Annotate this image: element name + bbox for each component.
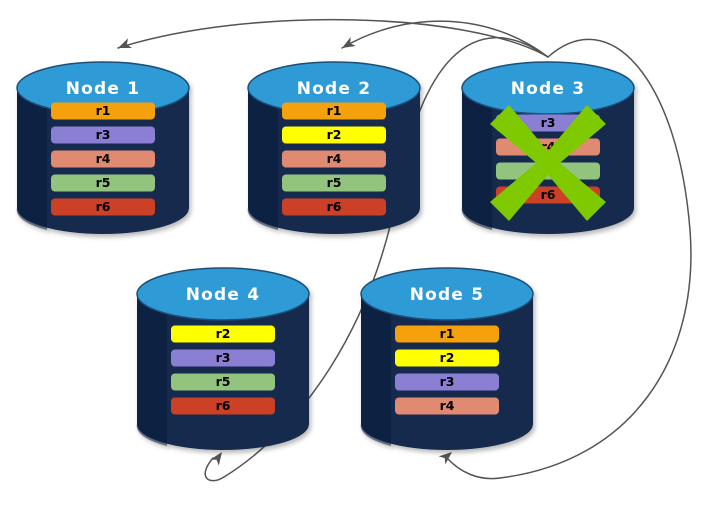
replication-diagram: Node 1r1r3r4r5r6Node 2r1r2r4r5r6Node 3r3… — [0, 0, 708, 508]
record-label: r6 — [96, 199, 111, 214]
node-cylinder-3[interactable]: Node 3r3r4r5r6 — [462, 62, 634, 234]
record-label: r2 — [216, 326, 231, 341]
record-label: r3 — [96, 127, 111, 142]
record-label: r2 — [327, 127, 342, 142]
node-label: Node 3 — [511, 79, 586, 99]
edge-arrowhead — [439, 448, 456, 464]
record-label: r5 — [96, 175, 111, 190]
record-label: r1 — [96, 103, 111, 118]
record-label: r4 — [327, 151, 342, 166]
cylinder-shading — [361, 294, 391, 446]
cylinder-shading — [137, 294, 167, 446]
record-label: r1 — [440, 326, 455, 341]
node-cylinder-2[interactable]: Node 2r1r2r4r5r6 — [248, 62, 420, 234]
node-cylinder-4[interactable]: Node 4r2r3r5r6 — [137, 268, 309, 450]
edge-node3-to-node1 — [116, 20, 548, 57]
node-label: Node 5 — [410, 285, 485, 305]
cylinder-shading — [17, 88, 47, 230]
record-label: r4 — [440, 398, 455, 413]
record-label: r2 — [440, 350, 455, 365]
diagram-canvas: Node 1r1r3r4r5r6Node 2r1r2r4r5r6Node 3r3… — [0, 0, 708, 508]
record-label: r1 — [327, 103, 342, 118]
node-label: Node 2 — [297, 79, 372, 99]
record-label: r6 — [327, 199, 342, 214]
record-label: r3 — [541, 115, 556, 130]
record-label: r4 — [96, 151, 111, 166]
node-cylinder-5[interactable]: Node 5r1r2r3r4 — [361, 268, 533, 450]
edge-arrowhead — [116, 38, 132, 53]
cylinder-shading — [248, 88, 278, 230]
record-label: r3 — [216, 350, 231, 365]
node-cylinder-1[interactable]: Node 1r1r3r4r5r6 — [17, 62, 189, 234]
node-label: Node 4 — [186, 285, 261, 305]
cylinder-shading — [462, 88, 492, 230]
record-label: r3 — [440, 374, 455, 389]
record-label: r5 — [327, 175, 342, 190]
record-label: r6 — [541, 187, 556, 202]
node-label: Node 1 — [66, 79, 141, 99]
edge-arrowhead — [339, 37, 355, 53]
record-label: r6 — [216, 398, 231, 413]
record-label: r5 — [216, 374, 231, 389]
nodes-layer: Node 1r1r3r4r5r6Node 2r1r2r4r5r6Node 3r3… — [17, 62, 634, 450]
